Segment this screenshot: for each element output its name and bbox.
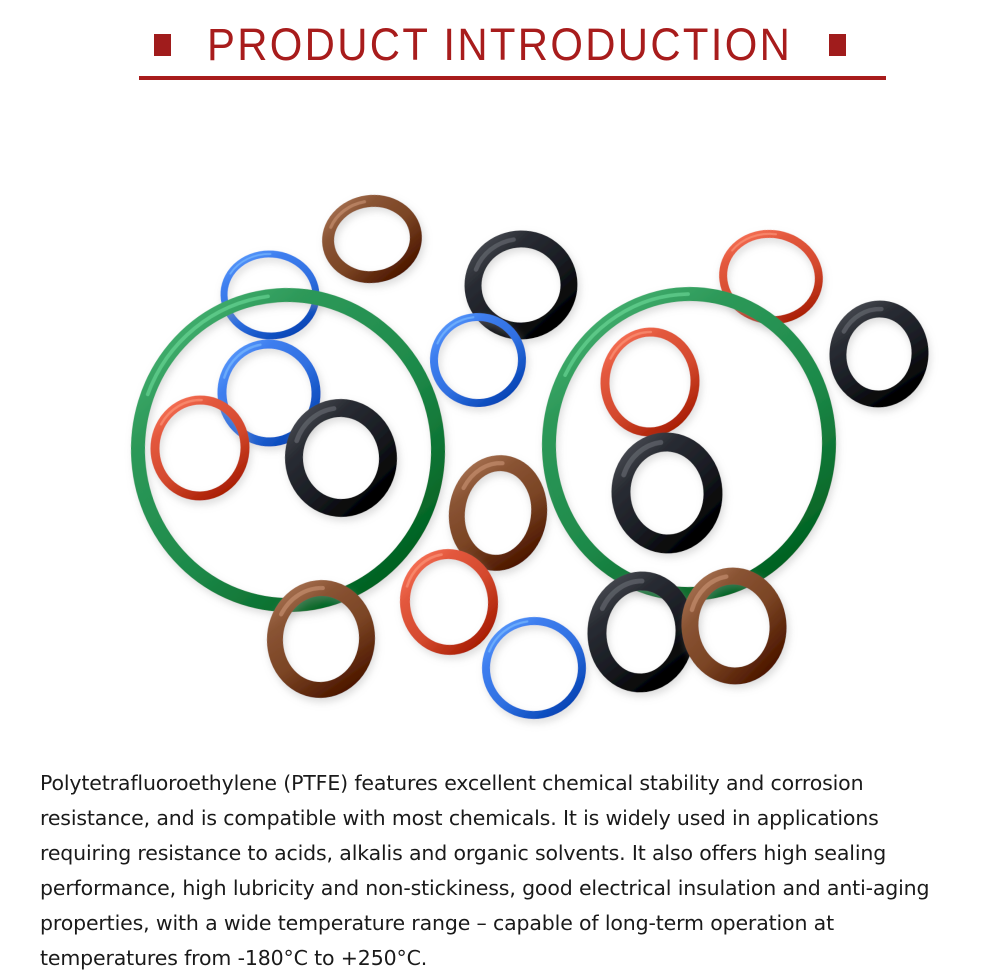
oring-illustration (0, 110, 1000, 740)
ring-black-right (834, 305, 925, 403)
ring-black-inner-right (618, 439, 717, 547)
product-image (0, 110, 1000, 740)
square-bullet-right-icon (829, 34, 846, 56)
ring-black-lower-right (594, 578, 689, 686)
ring-orange-inner-right (602, 329, 699, 435)
ring-black-inner-left (290, 404, 392, 512)
ring-blue-mid (432, 315, 524, 405)
description-paragraph: Polytetrafluoroethylene (PTFE) features … (40, 766, 962, 976)
square-bullet-left-icon (154, 34, 171, 56)
page-title: PRODUCT INTRODUCTION (207, 22, 792, 67)
ring-orange-upper-right (716, 226, 825, 327)
ring-brown-center (450, 458, 545, 568)
page-header: PRODUCT INTRODUCTION (0, 0, 1000, 100)
title-row: PRODUCT INTRODUCTION (0, 22, 1000, 67)
ring-orange-lower (400, 550, 498, 655)
ring-blue-lower (482, 617, 586, 719)
ring-orange-inner-left (151, 396, 249, 499)
description-block: Polytetrafluoroethylene (PTFE) features … (40, 766, 962, 976)
ring-brown-top (323, 195, 421, 283)
title-underline-rule (139, 76, 886, 80)
